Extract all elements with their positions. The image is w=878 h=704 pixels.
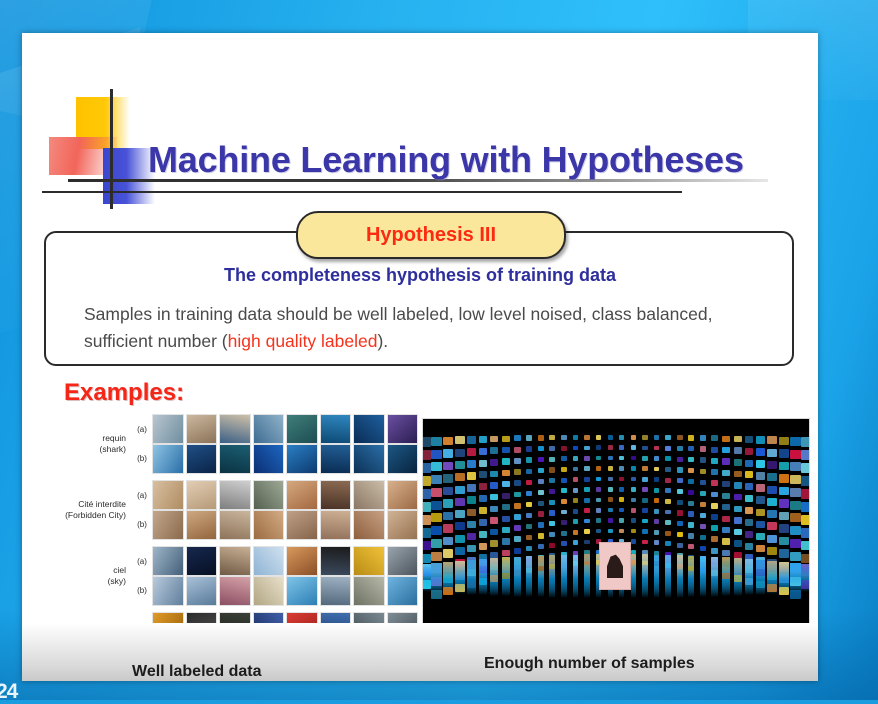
thumbnail <box>320 510 352 540</box>
video-wall-tile <box>790 526 802 535</box>
subrow-letter-a: (a) <box>132 481 152 510</box>
video-wall-tile <box>801 528 810 538</box>
thumbnail <box>320 576 352 606</box>
video-wall-tile <box>455 473 465 481</box>
video-wall-tile <box>677 521 683 526</box>
video-wall-tile <box>779 462 790 471</box>
video-wall-tile <box>443 462 454 471</box>
thumbnail <box>387 480 419 510</box>
category-label: requin(shark) <box>50 433 132 454</box>
video-wall-tile <box>711 503 718 509</box>
thumbnail <box>186 510 218 540</box>
video-wall-tile <box>688 544 694 549</box>
video-wall-tile <box>677 467 683 472</box>
video-wall-tile <box>479 531 488 538</box>
video-wall-tile <box>443 487 454 496</box>
video-wall-tile <box>688 479 694 484</box>
video-wall-tile <box>722 550 729 556</box>
video-wall-tile <box>711 458 718 464</box>
video-wall-tile <box>443 499 454 508</box>
video-wall-tile <box>745 471 754 478</box>
video-wall-tile <box>584 477 589 482</box>
video-wall-tile <box>767 486 777 494</box>
video-wall-tile <box>490 471 498 478</box>
video-wall-tile <box>665 499 670 504</box>
video-wall-tile <box>422 541 431 551</box>
thumbnail <box>353 444 385 474</box>
video-wall-tile <box>722 538 729 544</box>
video-wall-tile <box>514 503 521 509</box>
video-wall-tile <box>490 436 498 443</box>
video-wall-tile <box>514 480 521 486</box>
video-wall-tile <box>779 474 790 483</box>
video-wall-tile <box>514 435 521 441</box>
video-wall-tile <box>538 511 544 516</box>
video-wall-tile <box>654 435 659 440</box>
thumbnail <box>286 414 318 444</box>
video-wall-tile <box>467 436 476 444</box>
video-wall-tile <box>502 436 509 442</box>
video-wall-tile <box>677 543 683 548</box>
video-wall-tile <box>608 477 613 482</box>
video-wall-tile <box>608 508 613 513</box>
video-wall-tile <box>619 508 624 513</box>
video-wall-tile <box>584 466 589 471</box>
video-wall-tile <box>711 492 718 498</box>
video-wall-tile <box>790 539 802 548</box>
video-wall-tile <box>756 545 765 553</box>
video-wall-tile <box>700 435 706 441</box>
thumbnail-row <box>152 576 418 604</box>
video-wall-tile <box>745 436 754 443</box>
video-wall-tile <box>767 436 777 444</box>
video-wall-tile <box>677 478 683 483</box>
video-wall-tile <box>734 471 742 478</box>
video-wall-tile <box>467 521 476 529</box>
video-wall-tile <box>790 501 802 510</box>
thumbnail <box>320 480 352 510</box>
hypothesis-subtitle: The completeness hypothesis of training … <box>22 265 818 286</box>
video-wall-tile <box>443 437 454 446</box>
video-wall-tile <box>654 509 659 514</box>
video-wall-tile <box>561 520 566 525</box>
video-wall-tile <box>561 456 566 461</box>
video-wall-tile <box>422 515 431 525</box>
video-wall-tile <box>700 502 706 508</box>
thumbnail <box>186 444 218 474</box>
video-wall-tile <box>584 456 589 461</box>
video-wall-tile <box>722 458 729 464</box>
video-wall-tile <box>734 506 742 513</box>
thumbnail <box>286 546 318 576</box>
video-wall-tile <box>573 467 578 472</box>
video-wall-tile <box>711 548 718 554</box>
video-wall-tile <box>619 529 624 534</box>
video-wall-tile <box>631 466 636 471</box>
video-wall-tile <box>642 487 647 492</box>
video-wall-tile <box>561 541 566 546</box>
video-wall-tile <box>596 445 601 450</box>
video-wall-tile <box>711 469 718 475</box>
video-wall-tile <box>573 509 578 514</box>
video-wall-tile <box>745 460 754 467</box>
video-wall-tile <box>549 521 555 526</box>
video-wall-tile <box>745 543 754 550</box>
video-wall-tile <box>745 495 754 502</box>
video-wall-tile <box>431 475 443 484</box>
thumbnail <box>152 480 184 510</box>
hypothesis-body-part1: Samples in training data should be well … <box>84 304 712 351</box>
category-label: Cité interdite(Forbidden City) <box>50 499 132 520</box>
caption-right: Enough number of samples <box>484 655 695 673</box>
video-wall-tile <box>619 477 624 482</box>
thumbnail <box>320 414 352 444</box>
video-wall-tile <box>467 545 476 553</box>
video-wall-tile <box>561 478 566 483</box>
thumbnail <box>152 414 184 444</box>
thumbnail <box>286 444 318 474</box>
video-wall-tile <box>700 491 706 497</box>
video-wall-tile <box>443 524 454 533</box>
thumbnail <box>320 546 352 576</box>
video-wall-tile <box>549 532 555 537</box>
video-wall-tile <box>608 466 613 471</box>
video-wall-tile <box>479 471 488 478</box>
video-wall-tile <box>767 449 777 457</box>
video-wall-tile <box>526 535 532 541</box>
video-wall-tile <box>722 493 729 499</box>
video-wall-tile <box>431 501 443 510</box>
video-wall-tile <box>584 435 589 440</box>
video-wall-tile <box>801 541 810 551</box>
video-wall-tile <box>422 463 431 473</box>
thumbnail <box>253 576 285 606</box>
video-wall-tile <box>665 531 670 536</box>
slide-logo-motif <box>48 91 158 201</box>
video-wall-tile <box>631 498 636 503</box>
video-wall-tile <box>422 489 431 499</box>
video-wall-tile <box>722 527 729 533</box>
video-wall-tile <box>688 501 694 506</box>
video-wall-tile <box>642 435 647 440</box>
subrow-letter-b: (b) <box>132 510 152 539</box>
video-wall-tile <box>538 522 544 527</box>
video-wall-tile <box>767 498 777 506</box>
video-wall-tile <box>526 469 532 475</box>
thumbnail <box>353 576 385 606</box>
video-wall-tile <box>801 437 810 447</box>
video-wall-tile <box>538 490 544 495</box>
logo-horizontal-rule-2 <box>42 191 682 193</box>
video-wall-tile <box>561 499 566 504</box>
video-wall-tile <box>502 470 509 476</box>
video-wall-tile <box>502 447 509 453</box>
video-wall-tile <box>711 447 718 453</box>
video-wall-tile <box>526 502 532 508</box>
video-wall-tile <box>443 537 454 546</box>
video-wall-tile <box>767 473 777 481</box>
video-wall-tile <box>549 500 555 505</box>
video-wall-tile <box>665 478 670 483</box>
video-wall-tile <box>745 531 754 538</box>
video-wall-tile <box>619 487 624 492</box>
video-wall-tile <box>700 446 706 452</box>
video-wall-tile <box>596 456 601 461</box>
video-wall-tile <box>431 513 443 522</box>
subrow-letters: (a)(b) <box>132 415 152 473</box>
video-wall-tile <box>561 531 566 536</box>
video-wall-tile <box>561 510 566 515</box>
video-wall-tile <box>431 462 443 471</box>
video-wall-tile <box>431 526 443 535</box>
video-wall-tile <box>619 456 624 461</box>
thumbnail <box>353 414 385 444</box>
video-wall-tile <box>745 507 754 514</box>
video-wall-tile <box>642 519 647 524</box>
hypothesis-body: Samples in training data should be well … <box>84 301 770 355</box>
video-wall-tile <box>596 477 601 482</box>
video-wall-tile <box>665 541 670 546</box>
video-wall-tile <box>538 446 544 451</box>
video-wall-tile <box>700 535 706 541</box>
video-wall-tile <box>573 498 578 503</box>
video-wall-tile <box>711 536 718 542</box>
video-wall-tile <box>490 529 498 536</box>
video-wall-tile <box>756 436 765 444</box>
video-wall-tile <box>654 456 659 461</box>
thumbnail <box>186 576 218 606</box>
thumbnail-row <box>152 510 418 538</box>
video-wall-tile <box>700 546 706 552</box>
video-wall-tile <box>467 496 476 504</box>
video-wall-tile <box>677 532 683 537</box>
thumbnail <box>387 546 419 576</box>
video-wall-tile <box>561 435 566 440</box>
video-wall-tile <box>502 538 509 544</box>
thumbnail <box>253 510 285 540</box>
video-wall-tile <box>549 510 555 515</box>
video-wall-tile <box>631 518 636 523</box>
video-wall-tile <box>756 448 765 456</box>
video-wall-tile <box>561 488 566 493</box>
video-wall-tile <box>549 478 555 483</box>
video-wall-tile <box>688 468 694 473</box>
video-wall-tile <box>431 488 443 497</box>
video-wall-tile <box>722 436 729 442</box>
video-wall-tile <box>422 450 431 460</box>
category-label-line1: Cité interdite <box>50 499 126 510</box>
video-wall-tile <box>642 529 647 534</box>
video-wall-tile <box>654 488 659 493</box>
video-wall-tile <box>631 445 636 450</box>
video-wall-tile <box>584 498 589 503</box>
video-wall-tile <box>502 504 509 510</box>
category-label-line2: (sky) <box>50 576 126 587</box>
thumbnail <box>152 510 184 540</box>
video-wall-tile <box>722 504 729 510</box>
video-wall-tile <box>631 477 636 482</box>
video-wall-tile <box>538 501 544 506</box>
thumbnail <box>253 546 285 576</box>
presentation-slide: Machine Learning with Hypotheses Hypothe… <box>22 33 818 681</box>
video-wall-tile <box>756 496 765 504</box>
thumbnail <box>387 576 419 606</box>
video-wall-tile <box>443 549 454 558</box>
video-wall-tile <box>490 459 498 466</box>
video-wall-tile <box>584 487 589 492</box>
video-wall-tile <box>443 512 454 521</box>
video-wall-tile <box>801 463 810 473</box>
video-wall-tile <box>549 489 555 494</box>
video-wall-tile <box>549 457 555 462</box>
video-wall-tile <box>584 529 589 534</box>
video-wall-tile <box>711 480 718 486</box>
thumbnail <box>219 444 251 474</box>
thumbnail <box>253 414 285 444</box>
figure-row-group: ciel(sky)(a)(b) <box>50 545 418 607</box>
video-wall-tile <box>573 446 578 451</box>
video-wall-tile <box>790 450 802 459</box>
video-wall-tile <box>608 487 613 492</box>
video-wall-tile <box>526 491 532 497</box>
video-wall-center-screen <box>599 542 631 590</box>
thumbnail <box>186 480 218 510</box>
video-wall-tile <box>619 518 624 523</box>
video-wall-tile <box>734 494 742 501</box>
thumbnail <box>253 444 285 474</box>
subrow-letter-b: (b) <box>132 576 152 605</box>
video-wall-tile <box>801 476 810 486</box>
video-wall-tile <box>608 435 613 440</box>
video-wall-tile <box>767 461 777 469</box>
video-wall-tile <box>722 470 729 476</box>
video-wall-tile <box>549 467 555 472</box>
video-wall-tile <box>734 436 742 443</box>
video-wall-tile <box>608 445 613 450</box>
thumbnail <box>353 546 385 576</box>
video-wall-tile <box>422 502 431 512</box>
thumbnail <box>387 510 419 540</box>
video-wall-tile <box>608 518 613 523</box>
video-wall-tile <box>526 457 532 463</box>
video-wall-tile <box>619 497 624 502</box>
video-wall-tile <box>422 476 431 486</box>
video-wall-tile <box>700 513 706 519</box>
video-wall-tile <box>608 529 613 534</box>
category-label-line2: (Forbidden City) <box>50 510 126 521</box>
video-wall-tile <box>596 498 601 503</box>
thumbnail-row <box>152 480 418 508</box>
video-wall-tile <box>767 547 777 555</box>
video-wall-tile <box>455 510 465 518</box>
video-wall-tile <box>688 490 694 495</box>
video-wall-tile <box>455 436 465 444</box>
video-wall-tile <box>722 516 729 522</box>
page-title: Machine Learning with Hypotheses <box>148 139 808 181</box>
video-wall-tile <box>596 466 601 471</box>
video-wall-tile <box>756 521 765 529</box>
video-wall-tile <box>631 487 636 492</box>
video-wall-tile <box>654 519 659 524</box>
video-wall-tile <box>431 450 443 459</box>
video-wall-tile <box>654 467 659 472</box>
video-wall-tile <box>490 540 498 547</box>
video-wall-tile <box>631 529 636 534</box>
video-wall-tile <box>573 488 578 493</box>
thumbnail-grid <box>152 480 418 540</box>
video-wall-tile <box>538 533 544 538</box>
video-wall-tile <box>654 498 659 503</box>
video-wall-tile <box>608 456 613 461</box>
thumbnail <box>387 414 419 444</box>
video-wall-tile <box>490 517 498 524</box>
video-wall-tile <box>779 449 790 458</box>
video-wall-tile <box>688 435 694 440</box>
video-wall-tile <box>619 466 624 471</box>
video-wall-tile <box>455 498 465 506</box>
video-wall-tile <box>665 488 670 493</box>
video-wall-tile <box>665 456 670 461</box>
thumbnail <box>152 444 184 474</box>
video-wall-tile <box>514 536 521 542</box>
video-wall-tile <box>677 446 683 451</box>
video-wall-tile <box>573 456 578 461</box>
video-wall-tile <box>801 489 810 499</box>
video-wall-tile <box>756 460 765 468</box>
video-wall-tile <box>688 522 694 527</box>
video-wall-tile <box>479 495 488 502</box>
video-wall-tile <box>734 517 742 524</box>
video-wall-tile <box>526 546 532 552</box>
video-wall-tile <box>756 533 765 541</box>
video-wall-tile <box>745 448 754 455</box>
thumbnail <box>253 480 285 510</box>
category-label: ciel(sky) <box>50 565 132 586</box>
video-wall-tile <box>642 508 647 513</box>
thumbnail <box>186 546 218 576</box>
video-wall-tile <box>677 510 683 515</box>
video-wall-tile <box>734 482 742 489</box>
video-wall-tile <box>596 529 601 534</box>
subrow-letter-a: (a) <box>132 415 152 444</box>
video-wall-tile <box>538 435 544 440</box>
video-wall-tile <box>801 450 810 460</box>
video-wall-tile <box>526 513 532 519</box>
video-wall-tile <box>514 514 521 520</box>
video-wall-tile <box>688 457 694 462</box>
thumbnail <box>219 510 251 540</box>
video-wall-tile <box>756 472 765 480</box>
video-wall-tile <box>538 457 544 462</box>
video-wall-tile <box>549 446 555 451</box>
examples-heading: Examples: <box>64 379 184 407</box>
video-wall-tile <box>455 449 465 457</box>
video-wall-tile <box>700 457 706 463</box>
subrow-letter-b: (b) <box>132 444 152 473</box>
video-wall-tile <box>514 525 521 531</box>
thumbnail <box>219 546 251 576</box>
thumbnail <box>152 546 184 576</box>
video-wall-tile <box>779 537 790 546</box>
video-wall-tile <box>734 447 742 454</box>
video-wall-tile <box>490 506 498 513</box>
thumbnail <box>353 510 385 540</box>
video-wall-tile <box>479 460 488 467</box>
video-wall-tile <box>596 435 601 440</box>
caption-left: Well labeled data <box>132 663 262 681</box>
subrow-letters: (a)(b) <box>132 547 152 605</box>
thumbnail <box>219 480 251 510</box>
